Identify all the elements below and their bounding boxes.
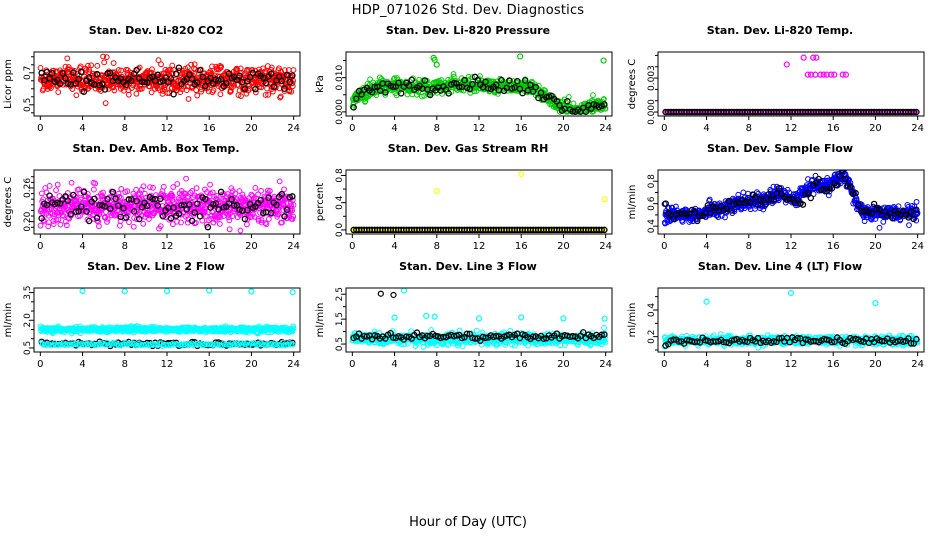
svg-text:20: 20 bbox=[245, 359, 258, 370]
svg-text:0.7: 0.7 bbox=[23, 66, 33, 80]
svg-text:24: 24 bbox=[911, 241, 924, 252]
svg-text:2.0: 2.0 bbox=[23, 313, 33, 328]
svg-text:8: 8 bbox=[434, 123, 440, 134]
svg-text:24: 24 bbox=[287, 123, 300, 134]
svg-text:16: 16 bbox=[827, 123, 840, 134]
panel-plot-area: 048121620240.0000.010kPa bbox=[312, 24, 624, 142]
svg-text:0.6: 0.6 bbox=[647, 196, 657, 211]
svg-text:0.000: 0.000 bbox=[647, 99, 657, 125]
svg-text:12: 12 bbox=[785, 123, 798, 134]
svg-text:0.010: 0.010 bbox=[335, 65, 345, 91]
svg-text:16: 16 bbox=[203, 359, 216, 370]
svg-text:8: 8 bbox=[122, 241, 128, 252]
svg-text:4: 4 bbox=[703, 123, 709, 134]
plot-panel: Stan. Dev. Amb. Box Temp.048121620240.20… bbox=[0, 142, 312, 260]
plot-panel: Stan. Dev. Line 4 (LT) Flow048121620240.… bbox=[624, 260, 936, 378]
figure-title: HDP_071026 Std. Dev. Diagnostics bbox=[0, 3, 936, 18]
panel-plot-area: 048121620240.200.26degrees C bbox=[0, 142, 312, 260]
svg-text:12: 12 bbox=[473, 241, 486, 252]
svg-text:kPa: kPa bbox=[315, 75, 326, 93]
svg-text:12: 12 bbox=[785, 241, 798, 252]
plot-panel: Stan. Dev. Sample Flow048121620240.40.60… bbox=[624, 142, 936, 260]
svg-text:0.0: 0.0 bbox=[335, 222, 345, 237]
panel-plot-area: 048121620240.00.40.8percent bbox=[312, 142, 624, 260]
plot-panel: Stan. Dev. Li-820 Pressure048121620240.0… bbox=[312, 24, 624, 142]
svg-text:0: 0 bbox=[37, 241, 43, 252]
svg-text:0.000: 0.000 bbox=[335, 99, 345, 125]
svg-text:0.8: 0.8 bbox=[335, 168, 345, 183]
svg-text:Licor ppm: Licor ppm bbox=[3, 59, 14, 109]
svg-text:0.8: 0.8 bbox=[647, 174, 657, 189]
svg-text:12: 12 bbox=[161, 123, 174, 134]
plot-panel: Stan. Dev. Line 3 Flow048121620240.51.52… bbox=[312, 260, 624, 378]
svg-text:0.4: 0.4 bbox=[647, 219, 657, 234]
svg-text:4: 4 bbox=[391, 359, 397, 370]
svg-text:4: 4 bbox=[703, 241, 709, 252]
panel-plot-area: 048121620240.20.4ml/min bbox=[624, 260, 936, 378]
svg-text:20: 20 bbox=[869, 241, 882, 252]
svg-text:0.003: 0.003 bbox=[647, 65, 657, 91]
svg-text:0.20: 0.20 bbox=[23, 211, 33, 231]
svg-text:16: 16 bbox=[827, 241, 840, 252]
svg-text:16: 16 bbox=[203, 241, 216, 252]
svg-text:0: 0 bbox=[661, 241, 667, 252]
svg-text:20: 20 bbox=[245, 123, 258, 134]
panel-plot-area: 048121620240.0000.003degrees C bbox=[624, 24, 936, 142]
svg-text:0.26: 0.26 bbox=[23, 178, 33, 198]
svg-text:4: 4 bbox=[391, 123, 397, 134]
svg-text:8: 8 bbox=[122, 123, 128, 134]
svg-text:0.5: 0.5 bbox=[23, 98, 33, 112]
svg-text:20: 20 bbox=[557, 123, 570, 134]
svg-text:ml/min: ml/min bbox=[627, 185, 638, 220]
svg-text:8: 8 bbox=[746, 241, 752, 252]
svg-text:24: 24 bbox=[599, 241, 612, 252]
panel-plot-area: 048121620240.52.03.5ml/min bbox=[0, 260, 312, 378]
svg-text:0: 0 bbox=[349, 359, 355, 370]
svg-text:4: 4 bbox=[79, 123, 85, 134]
panel-plot-area: 048121620240.51.52.5ml/min bbox=[312, 260, 624, 378]
plot-panel: Stan. Dev. Li-820 CO2048121620240.50.7Li… bbox=[0, 24, 312, 142]
svg-text:24: 24 bbox=[287, 241, 300, 252]
svg-text:16: 16 bbox=[515, 123, 528, 134]
svg-text:24: 24 bbox=[911, 123, 924, 134]
svg-text:degrees C: degrees C bbox=[627, 59, 638, 109]
svg-text:8: 8 bbox=[746, 123, 752, 134]
svg-text:12: 12 bbox=[473, 359, 486, 370]
plot-panel: Stan. Dev. Gas Stream RH048121620240.00.… bbox=[312, 142, 624, 260]
svg-text:20: 20 bbox=[557, 241, 570, 252]
svg-text:20: 20 bbox=[245, 241, 258, 252]
svg-text:0: 0 bbox=[37, 359, 43, 370]
svg-text:24: 24 bbox=[599, 123, 612, 134]
svg-text:0: 0 bbox=[661, 123, 667, 134]
figure-xlabel: Hour of Day (UTC) bbox=[0, 515, 936, 530]
panel-grid: Stan. Dev. Li-820 CO2048121620240.50.7Li… bbox=[0, 24, 936, 379]
svg-text:percent: percent bbox=[315, 183, 326, 221]
svg-text:0: 0 bbox=[349, 123, 355, 134]
panel-plot-area: 048121620240.50.7Licor ppm bbox=[0, 24, 312, 142]
svg-text:8: 8 bbox=[434, 241, 440, 252]
svg-text:4: 4 bbox=[391, 241, 397, 252]
svg-text:3.5: 3.5 bbox=[23, 285, 33, 299]
svg-text:16: 16 bbox=[203, 123, 216, 134]
plot-panel: Stan. Dev. Line 2 Flow048121620240.52.03… bbox=[0, 260, 312, 378]
svg-text:degrees C: degrees C bbox=[3, 177, 14, 227]
svg-text:0: 0 bbox=[349, 241, 355, 252]
svg-text:24: 24 bbox=[287, 359, 300, 370]
svg-text:4: 4 bbox=[79, 359, 85, 370]
svg-text:4: 4 bbox=[79, 241, 85, 252]
svg-text:0.4: 0.4 bbox=[335, 195, 345, 210]
svg-text:20: 20 bbox=[869, 123, 882, 134]
plot-panel: Stan. Dev. Li-820 Temp.048121620240.0000… bbox=[624, 24, 936, 142]
panel-plot-area: 048121620240.40.60.8ml/min bbox=[624, 142, 936, 260]
svg-text:8: 8 bbox=[434, 359, 440, 370]
svg-text:12: 12 bbox=[473, 123, 486, 134]
svg-text:16: 16 bbox=[515, 241, 528, 252]
svg-text:12: 12 bbox=[161, 241, 174, 252]
svg-text:8: 8 bbox=[122, 359, 128, 370]
svg-text:12: 12 bbox=[161, 359, 174, 370]
svg-text:0: 0 bbox=[37, 123, 43, 134]
svg-text:0.5: 0.5 bbox=[23, 341, 33, 355]
svg-text:ml/min: ml/min bbox=[3, 303, 14, 338]
